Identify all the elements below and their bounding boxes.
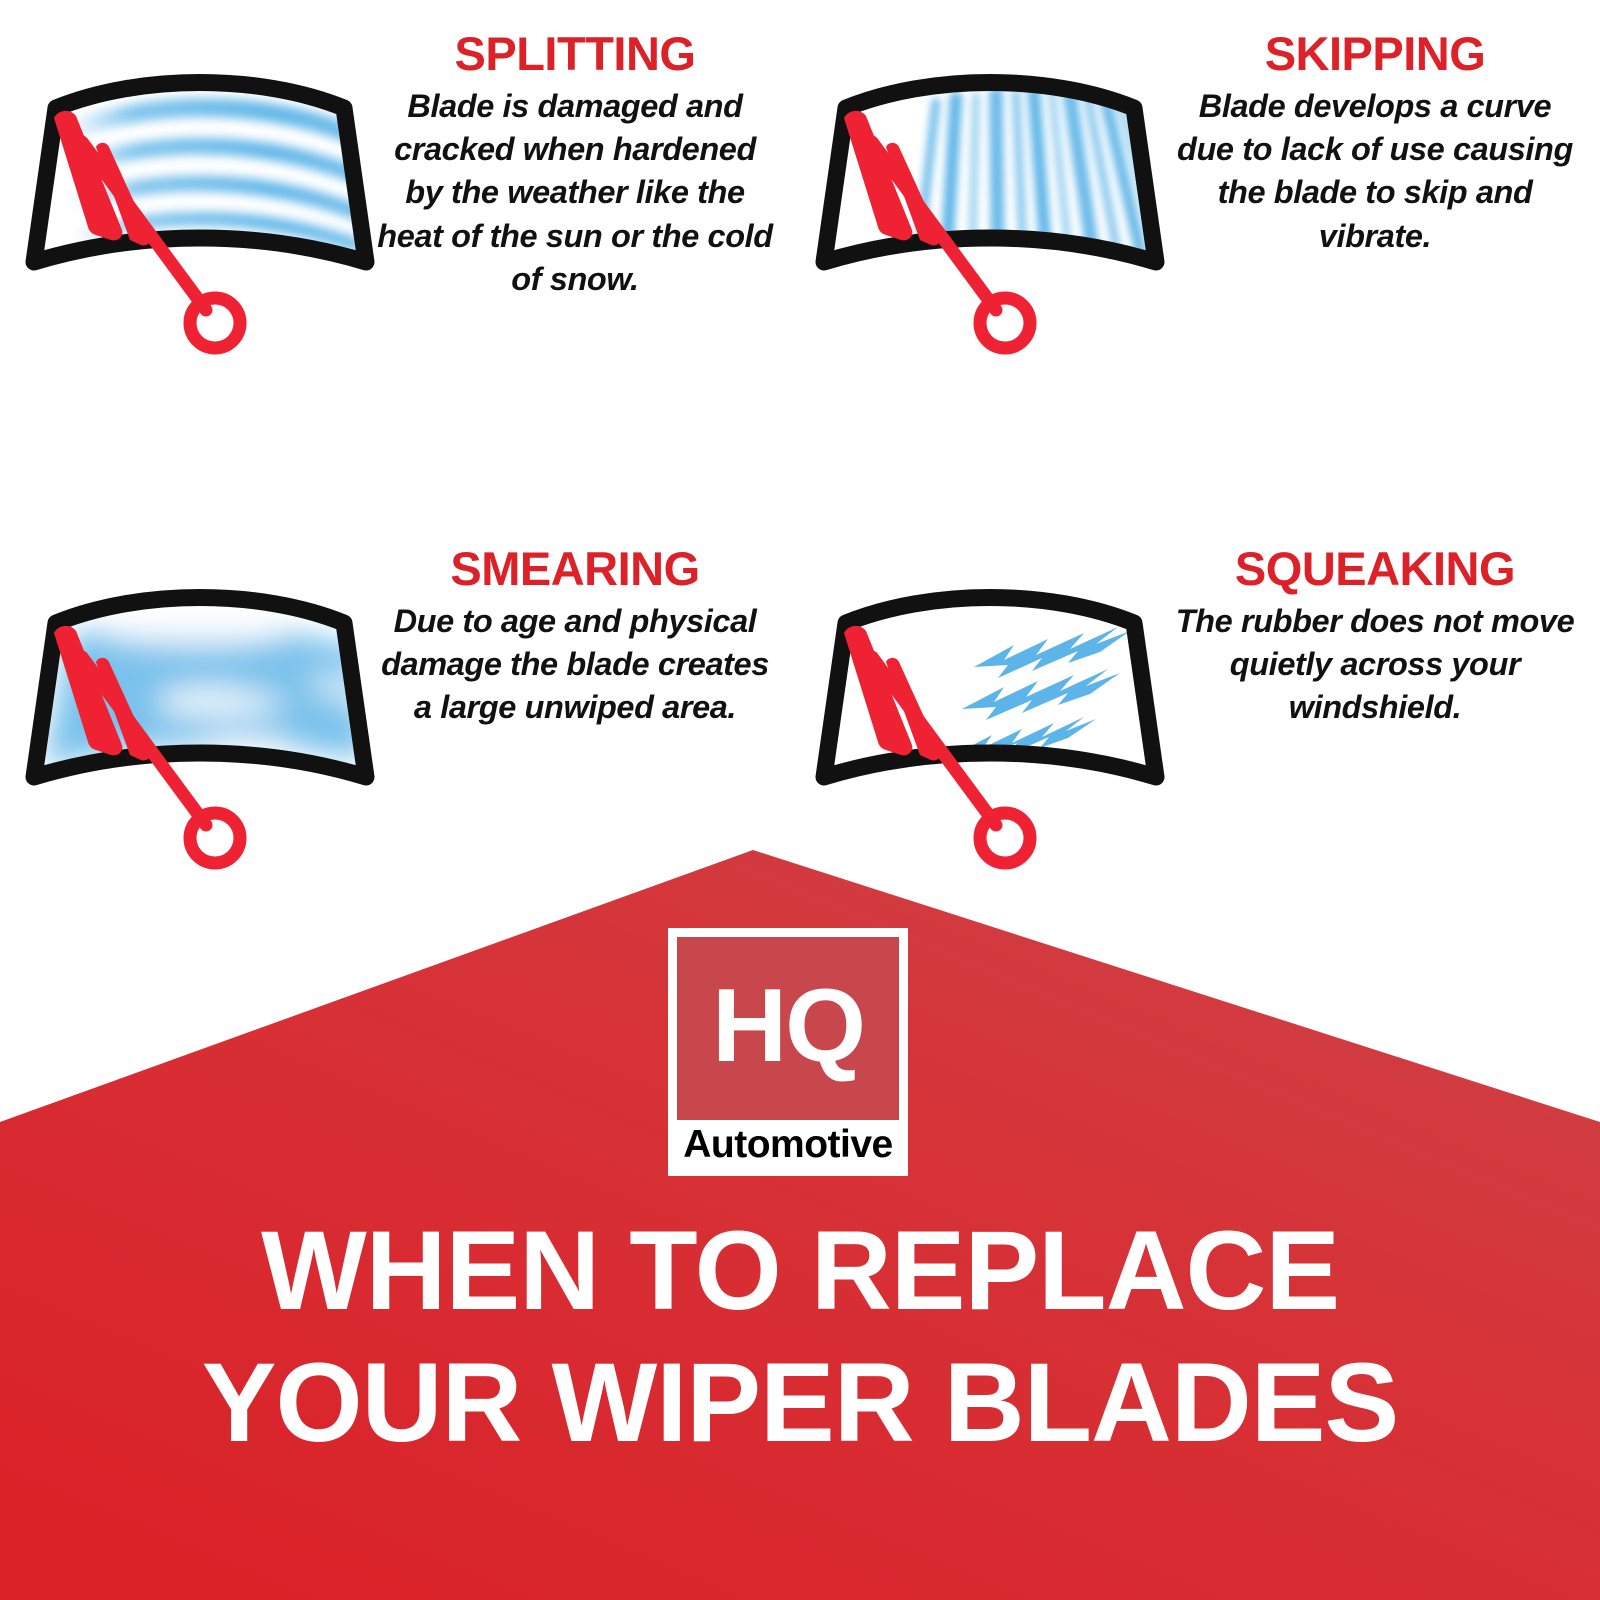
panel-splitting: SPLITTING Blade is damaged and cracked w…: [0, 30, 780, 460]
panel-body: The rubber does not move quietly across …: [1170, 600, 1580, 730]
windshield-wiper-icon: [800, 545, 1180, 875]
panel-squeaking: SQUEAKING The rubber does not move quiet…: [790, 545, 1570, 975]
infographic-canvas: SPLITTING Blade is damaged and cracked w…: [0, 0, 1600, 1600]
panel-skipping: SKIPPING Blade develops a curve due to l…: [790, 30, 1570, 460]
windshield-wiper-icon: [10, 30, 390, 360]
panel-copy-splitting: SPLITTING Blade is damaged and cracked w…: [375, 30, 775, 301]
logo-wordmark-box: Automotive: [677, 1120, 899, 1168]
windshield-wiper-icon: [800, 30, 1180, 360]
panel-body: Blade develops a curve due to lack of us…: [1170, 85, 1580, 258]
logo-mark-box: HQ: [677, 937, 899, 1120]
logo-initials: HQ: [712, 974, 864, 1084]
panel-copy-skipping: SKIPPING Blade develops a curve due to l…: [1170, 30, 1580, 258]
page-title-line-2: YOUR WIPER BLADES: [0, 1337, 1600, 1469]
page-title-line-1: WHEN TO REPLACE: [0, 1205, 1600, 1337]
panel-copy-squeaking: SQUEAKING The rubber does not move quiet…: [1170, 545, 1580, 730]
panel-heading: SMEARING: [375, 545, 775, 592]
logo-wordmark: Automotive: [683, 1125, 893, 1164]
hq-automotive-logo: HQ Automotive: [668, 928, 908, 1176]
panel-body: Blade is damaged and cracked when harden…: [375, 85, 775, 301]
panel-copy-smearing: SMEARING Due to age and physical damage …: [375, 545, 775, 730]
panel-smearing: SMEARING Due to age and physical damage …: [0, 545, 780, 975]
panel-heading: SQUEAKING: [1170, 545, 1580, 592]
squeak-zigzag-icon: [954, 627, 1130, 761]
panel-heading: SKIPPING: [1170, 30, 1580, 77]
panel-heading: SPLITTING: [375, 30, 775, 77]
page-title: WHEN TO REPLACE YOUR WIPER BLADES: [0, 1205, 1600, 1469]
windshield-wiper-icon: [10, 545, 390, 875]
panel-body: Due to age and physical damage the blade…: [375, 600, 775, 730]
